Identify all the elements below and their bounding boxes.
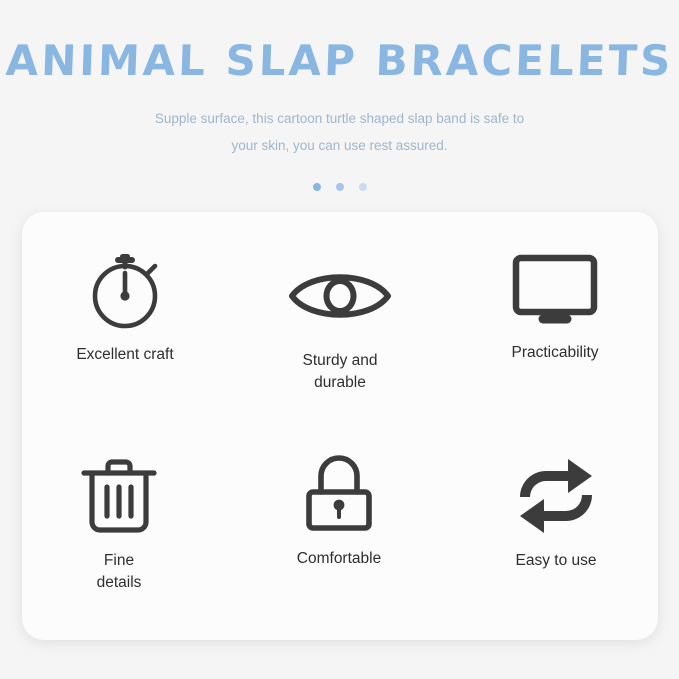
feature-label-line-1: Easy to use: [516, 550, 597, 572]
lock-icon: [293, 452, 385, 536]
banner-subtitle: Supple surface, this cartoon turtle shap…: [0, 105, 679, 159]
feature-label: Practicability: [512, 342, 599, 364]
feature-label-line-2: details: [97, 572, 142, 594]
feature-item-practicability: Practicability: [449, 210, 661, 424]
trash-icon: [73, 454, 165, 538]
subtitle-line-2: your skin, you can use rest assured.: [0, 132, 679, 159]
feature-label-line-1: Comfortable: [297, 548, 381, 570]
feature-item-sturdy-and-durable: Sturdy and durable: [234, 218, 446, 432]
subtitle-line-1: Supple surface, this cartoon turtle shap…: [0, 105, 679, 132]
feature-label-line-1: Excellent craft: [76, 344, 173, 366]
feature-label: Comfortable: [297, 548, 381, 570]
eye-icon: [294, 254, 386, 338]
page-title: ANIMAL SLAP BRACELETS: [0, 34, 679, 88]
carousel-dots[interactable]: [0, 183, 679, 191]
feature-item-fine-details: Fine details: [13, 428, 225, 642]
monitor-icon: [509, 246, 601, 330]
feature-card: Excellent craft Sturdy and durable: [22, 212, 658, 640]
refresh-arrows-icon: [510, 454, 602, 538]
feature-label-line-1: Fine: [97, 550, 142, 572]
carousel-dot-2[interactable]: [336, 183, 344, 191]
feature-label: Excellent craft: [76, 344, 173, 366]
carousel-dot-1[interactable]: [313, 183, 321, 191]
feature-label-line-1: Practicability: [512, 342, 599, 364]
feature-item-comfortable: Comfortable: [233, 426, 445, 640]
stopwatch-icon: [79, 248, 171, 332]
feature-label: Fine details: [97, 550, 142, 594]
feature-grid: Excellent craft Sturdy and durable: [22, 212, 658, 640]
feature-label: Sturdy and durable: [303, 350, 378, 394]
feature-label: Easy to use: [516, 550, 597, 572]
carousel-dot-3[interactable]: [359, 183, 367, 191]
feature-item-excellent-craft: Excellent craft: [19, 212, 231, 426]
feature-label-line-1: Sturdy and: [303, 350, 378, 372]
banner-header: ANIMAL SLAP BRACELETS Supple surface, th…: [0, 0, 679, 212]
feature-label-line-2: durable: [303, 372, 378, 394]
feature-item-easy-to-use: Easy to use: [450, 428, 662, 642]
